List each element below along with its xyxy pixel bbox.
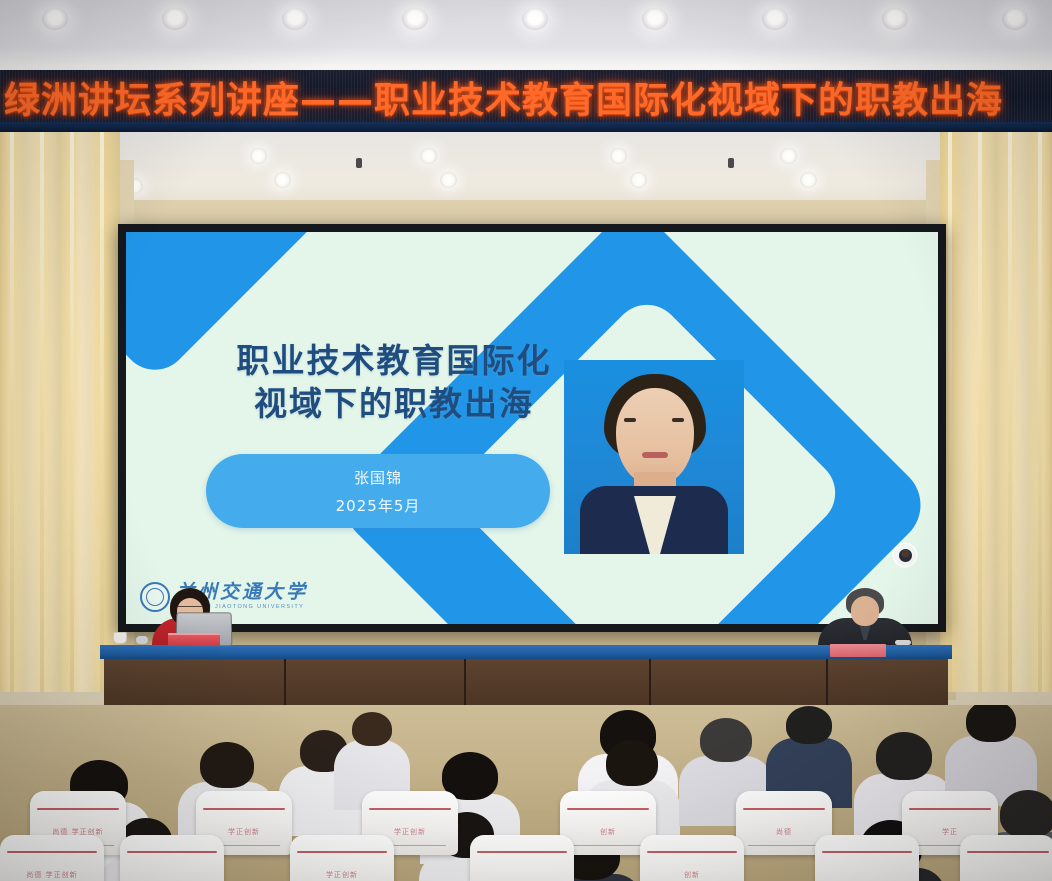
university-logo: 兰州交通大学 LANZHOU JIAOTONG UNIVERSITY — [140, 582, 308, 612]
slide-title: 职业技术教育国际化 视域下的职教出海 — [164, 340, 624, 426]
downlight-icon — [630, 172, 647, 188]
audience-member-head — [876, 732, 932, 780]
university-seal-icon — [140, 582, 170, 612]
downlight-icon — [274, 172, 291, 188]
audience-chair — [815, 835, 919, 881]
downlight-icon — [882, 8, 908, 30]
audience-member-head — [700, 718, 752, 762]
presenter-nameplate — [168, 633, 220, 646]
slat-wall-left — [0, 132, 120, 692]
slide-speaker-pill: 张国锦 2025年5月 — [206, 454, 550, 528]
presentation-slide: 职业技术教育国际化 视域下的职教出海 张国锦 2025年5月 兰州交通大学 LA… — [126, 232, 938, 624]
presenter-glasses-icon — [178, 606, 202, 612]
slide-speaker-name: 张国锦 — [354, 467, 402, 488]
audience-member-head — [786, 706, 832, 744]
downlight-icon — [800, 172, 817, 188]
slide-date: 2025年5月 — [336, 495, 421, 516]
computer-mouse — [136, 636, 148, 644]
led-strip — [0, 122, 1052, 132]
ceiling-speaker-icon — [728, 158, 734, 168]
audience-chair: 创新 — [640, 835, 744, 881]
chair-cover-text: 尚德 学正创新 — [0, 870, 104, 880]
downlight-icon — [522, 8, 548, 30]
slide-title-line2: 视域下的职教出海 — [164, 383, 624, 426]
host-face — [851, 596, 879, 626]
downlight-icon — [282, 8, 308, 30]
audience-chair — [470, 835, 574, 881]
chair-cover-text: 学正创新 — [290, 870, 394, 880]
audience-member-head — [606, 740, 658, 786]
projection-screen-frame: 职业技术教育国际化 视域下的职教出海 张国锦 2025年5月 兰州交通大学 LA… — [118, 224, 946, 632]
downlight-icon — [440, 172, 457, 188]
downlight-icon — [642, 8, 668, 30]
downlight-icon — [610, 148, 627, 164]
desk-top-cloth — [100, 645, 952, 659]
downlight-icon — [402, 8, 428, 30]
led-banner-text: 绿洲讲坛系列讲座——职业技术教育国际化视域下的职教出海 — [0, 83, 1003, 119]
ceiling-speaker-icon — [356, 158, 362, 168]
downlight-icon — [780, 148, 797, 164]
downlight-icon — [1002, 8, 1028, 30]
downlight-icon — [162, 8, 188, 30]
audience-chair: 学正创新 — [290, 835, 394, 881]
auditorium-photo: 绿洲讲坛系列讲座——职业技术教育国际化视域下的职教出海 — [0, 0, 1052, 881]
audience-area: 尚德 学正创新学正创新学正创新创新尚德学正尚德 学正创新学正创新创新 — [0, 705, 1052, 881]
downlight-icon — [420, 148, 437, 164]
slide-title-line1: 职业技术教育国际化 — [164, 340, 624, 383]
downlight-icon — [250, 148, 267, 164]
downlight-icon — [42, 8, 68, 30]
audience-chair — [120, 835, 224, 881]
avatar-watermark-icon — [894, 544, 916, 566]
slat-wall-right — [940, 132, 1052, 692]
audience-member-head — [352, 712, 392, 746]
slide-shape-mask — [126, 232, 938, 624]
chair-cover-text: 创新 — [560, 827, 656, 837]
teacup — [113, 632, 127, 644]
audience-member-head — [200, 742, 254, 788]
audience-chair: 尚德 学正创新 — [0, 835, 104, 881]
audience-member-head — [1000, 790, 1052, 838]
host-nameplate — [830, 644, 886, 657]
microphone-icon — [895, 640, 911, 645]
chair-cover-text: 创新 — [640, 870, 744, 880]
audience-chair — [960, 835, 1052, 881]
chair-cover-text: 尚德 — [736, 827, 832, 837]
audience-member-head — [966, 705, 1016, 742]
downlight-icon — [762, 8, 788, 30]
